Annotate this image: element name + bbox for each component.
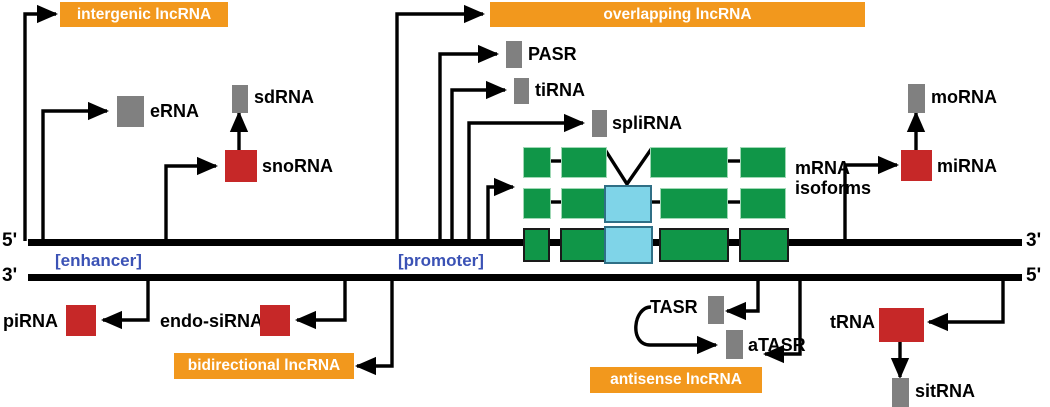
promoter-label: [promoter] bbox=[398, 252, 484, 269]
endo-sirna-label: endo-siRNA bbox=[160, 312, 263, 330]
bidirectional-lncrna-label: bidirectional lncRNA bbox=[188, 357, 340, 375]
connector-trna bbox=[929, 279, 1003, 322]
tasr-glyph[interactable] bbox=[708, 296, 724, 324]
exon-block bbox=[561, 188, 607, 219]
exon-block bbox=[739, 228, 789, 262]
erna-label: eRNA bbox=[150, 102, 199, 120]
erna-glyph[interactable] bbox=[117, 96, 144, 127]
exon-block bbox=[660, 188, 728, 219]
connector-bidirectional-lncrna bbox=[357, 279, 392, 366]
morna-glyph[interactable] bbox=[908, 84, 925, 113]
cassette-exon-block bbox=[604, 226, 653, 264]
connector-mrna-isoforms bbox=[488, 187, 513, 241]
tirna-glyph[interactable] bbox=[514, 78, 529, 104]
tasr-label: TASR bbox=[650, 298, 698, 316]
overlapping-lncrna-bar[interactable]: overlapping lncRNA bbox=[490, 2, 865, 27]
connector-erna bbox=[43, 111, 107, 241]
snorna-label: snoRNA bbox=[262, 157, 333, 175]
connector-snorna bbox=[166, 166, 216, 241]
pirna-glyph[interactable] bbox=[66, 305, 96, 336]
bidirectional-lncrna-bar[interactable]: bidirectional lncRNA bbox=[174, 353, 354, 379]
exon-block bbox=[523, 228, 550, 262]
pasr-label: PASR bbox=[528, 45, 577, 63]
exon-block bbox=[560, 228, 610, 262]
figure-canvas: intergenic lncRNA overlapping lncRNA bid… bbox=[0, 0, 1050, 407]
exon-block bbox=[740, 147, 786, 178]
sitrna-glyph[interactable] bbox=[892, 378, 909, 407]
mirna-label: miRNA bbox=[937, 157, 997, 175]
antisense-three-prime-label: 3' bbox=[2, 266, 17, 285]
mrna-isoforms-label-line1: mRNA bbox=[795, 158, 871, 178]
connector-pirna bbox=[103, 279, 148, 320]
mrna-isoforms-label: mRNA isoforms bbox=[795, 158, 871, 198]
antisense-lncrna-label: antisense lncRNA bbox=[610, 371, 742, 389]
pasr-glyph[interactable] bbox=[506, 41, 522, 68]
splirna-glyph[interactable] bbox=[592, 110, 607, 137]
connector-endo-sirna bbox=[297, 279, 345, 320]
snorna-glyph[interactable] bbox=[225, 150, 257, 182]
pirna-label: piRNA bbox=[3, 312, 58, 330]
overlapping-lncrna-label: overlapping lncRNA bbox=[603, 6, 751, 24]
exon-block bbox=[659, 228, 729, 262]
connector-tasr bbox=[727, 279, 758, 311]
connector-splirna bbox=[469, 123, 583, 241]
connector-tirna bbox=[452, 90, 505, 241]
exon-block bbox=[523, 147, 551, 178]
atasr-label: aTASR bbox=[748, 336, 806, 354]
connector-intergenic-lncrna bbox=[25, 14, 56, 241]
tirna-label: tiRNA bbox=[535, 81, 585, 99]
enhancer-label: [enhancer] bbox=[55, 252, 142, 269]
antisense-five-prime-label: 5' bbox=[1026, 266, 1041, 285]
sdrna-label: sdRNA bbox=[254, 88, 314, 106]
exon-block bbox=[740, 188, 786, 219]
endo-sirna-glyph[interactable] bbox=[260, 305, 290, 336]
exon-block bbox=[523, 188, 551, 219]
sense-five-prime-label: 5' bbox=[2, 231, 17, 250]
exon-block bbox=[650, 147, 728, 178]
sdrna-glyph[interactable] bbox=[232, 85, 248, 113]
morna-label: moRNA bbox=[931, 88, 997, 106]
sitrna-label: sitRNA bbox=[915, 382, 975, 400]
trna-glyph[interactable] bbox=[879, 308, 924, 342]
trna-label: tRNA bbox=[830, 313, 875, 331]
sense-three-prime-label: 3' bbox=[1026, 231, 1041, 250]
antisense-lncrna-bar[interactable]: antisense lncRNA bbox=[590, 367, 762, 393]
mirna-glyph[interactable] bbox=[901, 150, 932, 181]
atasr-glyph[interactable] bbox=[726, 330, 743, 359]
intergenic-lncrna-bar[interactable]: intergenic lncRNA bbox=[60, 2, 228, 27]
intergenic-lncrna-label: intergenic lncRNA bbox=[77, 6, 211, 24]
mrna-isoforms-label-line2: isoforms bbox=[795, 178, 871, 198]
splirna-label: spliRNA bbox=[612, 114, 682, 132]
exon-block bbox=[561, 147, 607, 178]
cassette-exon-block bbox=[604, 185, 652, 223]
